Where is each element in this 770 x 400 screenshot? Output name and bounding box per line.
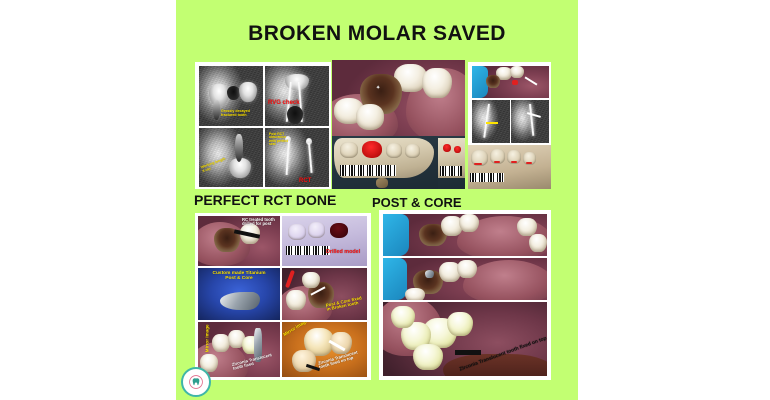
- right-radiograph-1: [472, 100, 510, 143]
- right-grid: Zirconia Translucent tooth fixed on top: [379, 210, 551, 380]
- right-grid-cell-3: Zirconia Translucent tooth fixed on top: [383, 302, 547, 376]
- cast-tooth-1: [340, 142, 358, 158]
- tooth-arch-2: [413, 344, 443, 370]
- cast-tooth-4: [405, 144, 420, 158]
- titanium-post-and-core: [220, 292, 260, 310]
- pulp-exposure-marker: ✦: [376, 86, 380, 91]
- tooth-icon: [189, 375, 203, 389]
- poster: BROKEN MOLAR SAVED Grossly decayed fract…: [176, 0, 578, 400]
- red-marker-1: [512, 80, 518, 85]
- arch-red-mark-1: [474, 163, 482, 165]
- xray-radiolucency: [287, 106, 303, 124]
- xray-cell-post-rct: Post RCT obturation with perfect seal RC…: [265, 128, 329, 189]
- tooth-post-space: [486, 75, 500, 88]
- center-model-photo: [332, 136, 438, 189]
- model-barcode: [286, 246, 330, 255]
- model-drilled-hole: [330, 223, 348, 238]
- arch-red-mark-4: [526, 162, 532, 164]
- center-clinical-photo: ✦: [332, 60, 465, 136]
- section-label-left: PERFECT RCT DONE: [194, 192, 336, 208]
- right-clinical-photo: [472, 66, 549, 98]
- left-grid-cell-2: Drilled model: [282, 216, 367, 266]
- left-grid-cell-6: Mirror image Zirconia Translucent tooth …: [282, 322, 367, 377]
- arch-red-mark-2: [494, 161, 500, 163]
- gloved-finger: [383, 258, 407, 300]
- left-grid-side-caption-5: Mirror image: [206, 324, 211, 352]
- left-grid: RC treated tooth drilled for post Drille…: [195, 213, 371, 380]
- left-grid-caption-3: Custom made Titanium Post & Core: [208, 272, 270, 282]
- yellow-pointer-arrow: [486, 122, 498, 124]
- right-model-photo: [468, 145, 551, 189]
- dental-clinic-logo: [181, 367, 211, 397]
- center-model-photo-right: [438, 136, 465, 189]
- gloved-finger: [383, 214, 409, 256]
- arch-barcode: [470, 173, 504, 182]
- pointer-arrow-white: [525, 76, 538, 85]
- right-radiograph-2: [511, 100, 549, 143]
- xray-caption-4: Post RCT obturation with perfect seal: [269, 133, 288, 147]
- xray-cell-pretreatment: Grossly decayed fractured tooth: [199, 66, 263, 126]
- tooth-lower-left-2: [356, 104, 384, 130]
- cast-tooth-3: [386, 143, 402, 158]
- model-tooth-2: [308, 222, 325, 238]
- xray-root: [213, 100, 220, 120]
- xray-cell-working-length: Working length X-ray: [199, 128, 263, 189]
- tooth-arch-2: [510, 66, 524, 78]
- xray-root: [235, 134, 243, 162]
- section-label-right: POST & CORE: [372, 195, 462, 210]
- left-grid-cell-1: RC treated tooth drilled for post: [198, 216, 280, 266]
- arch-red-mark-3: [511, 161, 517, 163]
- tooth-arch-2: [457, 260, 477, 278]
- right-grid-cell-1: [383, 214, 547, 256]
- xray-adjacent-tooth: [239, 82, 257, 102]
- titanium-post-head: [425, 270, 434, 278]
- tooth-premolar: [422, 68, 452, 98]
- tooth-arch-2: [459, 214, 479, 232]
- page-title: BROKEN MOLAR SAVED: [176, 22, 578, 46]
- xray-caption-2: RVG check: [268, 100, 300, 106]
- cast-red-mark-2: [454, 146, 461, 153]
- cast-barcode: [340, 165, 396, 176]
- cast-red-mark: [443, 144, 451, 152]
- model-tooth-1: [288, 224, 306, 240]
- tooth-arch-4: [391, 306, 415, 328]
- left-grid-caption-2: Drilled model: [326, 250, 360, 256]
- cast-prepared-tooth: [362, 141, 382, 158]
- tooth-arch-3: [447, 312, 473, 336]
- xray-cell-rvg-check: RVG check: [265, 66, 329, 126]
- left-grid-cell-4: Post & Core fixed in Broken tooth: [282, 268, 367, 320]
- right-top-panel: [468, 62, 551, 145]
- xray-caption-1: Grossly decayed fractured tooth: [221, 110, 250, 117]
- red-arrow-mark: [285, 270, 295, 288]
- left-grid-cell-3: Custom made Titanium Post & Core: [198, 268, 280, 320]
- screenshot-canvas: BROKEN MOLAR SAVED Grossly decayed fract…: [0, 0, 770, 400]
- tooth-arch-3: [405, 288, 425, 300]
- left-grid-cell-5: Mirror image Zirconia Translucent tooth …: [198, 322, 280, 377]
- tooth-3: [302, 272, 320, 288]
- tooth-arch-4: [529, 234, 547, 252]
- cast-barcode-partial: [440, 166, 462, 176]
- left-grid-caption-1: RC treated tooth drilled for post: [242, 218, 275, 227]
- xray-texture: [199, 128, 263, 189]
- xray-panel: Grossly decayed fractured tooth RVG chec…: [195, 62, 331, 189]
- cast-fragment: [376, 178, 388, 188]
- pointer-arrow-black: [455, 350, 481, 355]
- right-grid-cell-2: [383, 258, 547, 300]
- tooth-1: [286, 290, 306, 310]
- xray-caption-rct-tag: RCT: [299, 178, 311, 184]
